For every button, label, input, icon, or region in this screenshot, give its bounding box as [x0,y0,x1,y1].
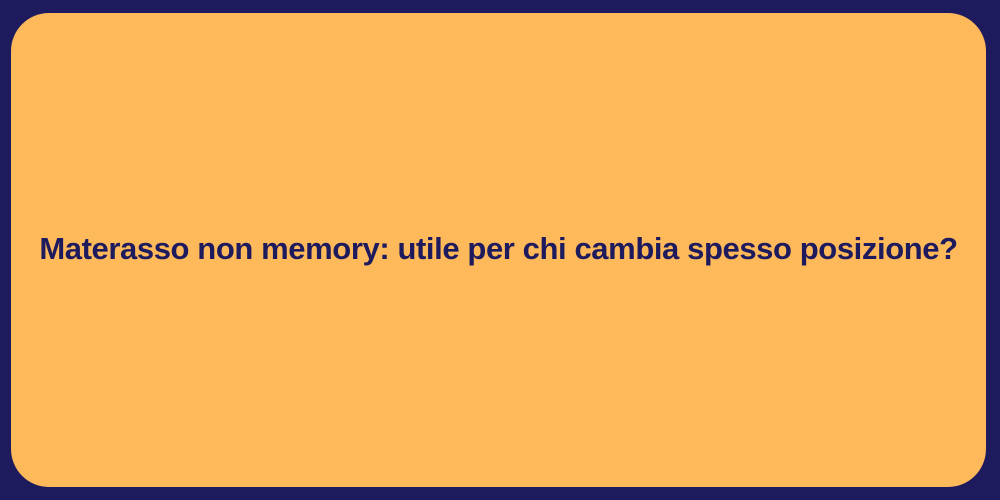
headline-block: Materasso non memory: utile per chi camb… [11,229,986,269]
content-card: Materasso non memory: utile per chi camb… [11,13,986,487]
page-frame: Materasso non memory: utile per chi camb… [0,0,1000,500]
page-title: Materasso non memory: utile per chi camb… [39,229,958,269]
